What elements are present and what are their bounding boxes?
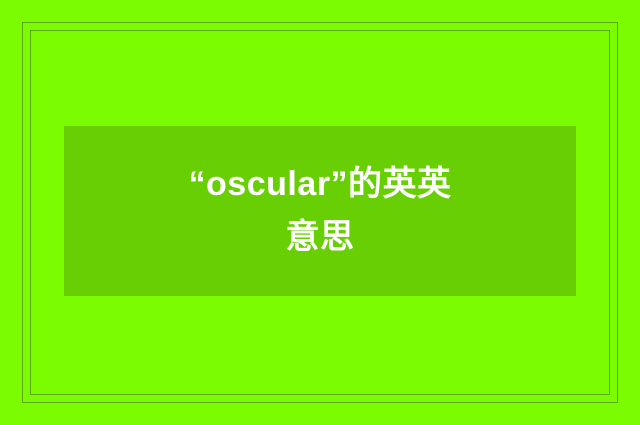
title-banner: “oscular”的英英意思 [64,126,576,296]
poster-canvas: “oscular”的英英意思 [0,0,640,425]
page-title: “oscular”的英英意思 [185,158,455,263]
